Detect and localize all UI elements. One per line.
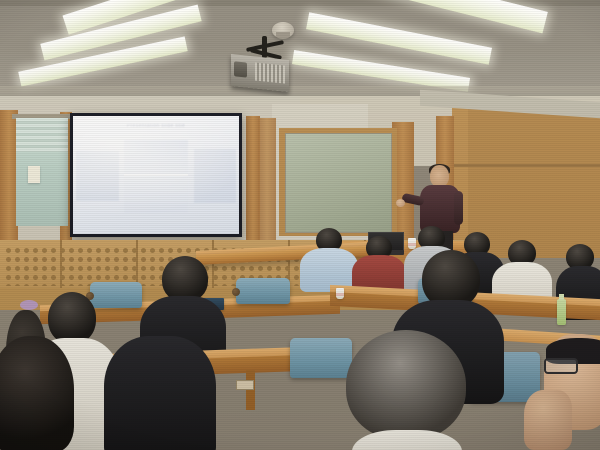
desk-row-3-leg [246, 370, 255, 410]
panel-seam-1 [60, 240, 62, 290]
projection-screen: Presentation slide title [70, 113, 242, 237]
wall-trim-line [452, 164, 600, 167]
window-blinds[interactable] [16, 118, 68, 152]
small-box-on-desk [236, 380, 254, 390]
chair-r2-2[interactable] [236, 278, 290, 304]
attendee-head [346, 330, 466, 440]
presenter-left-arm [454, 191, 463, 225]
chair-r2-2-knob [232, 288, 240, 296]
attendee-hand [524, 390, 572, 450]
attendee-long-hair-far-left [0, 336, 78, 450]
projector-glare [73, 116, 239, 234]
presenter-right-hand [396, 199, 405, 207]
attendee-torso [104, 336, 216, 450]
wood-column-4 [258, 118, 276, 242]
attendee-foreground-black [104, 316, 214, 450]
ceiling-projector [231, 54, 289, 92]
hair-tie [20, 300, 38, 310]
posted-note [28, 166, 40, 183]
attendee-glasses-right [530, 334, 600, 450]
attendee-blue-shirt-left-front [300, 228, 360, 290]
drink-bottle [557, 299, 566, 325]
paper-cup-row2 [336, 288, 344, 299]
projector-vent [255, 62, 285, 83]
attendee-collar [352, 430, 462, 450]
presenter-head [430, 165, 449, 187]
lecture-room-photo: Presentation slide title [0, 0, 600, 450]
eyeglasses-icon [544, 358, 578, 374]
projector-lens-icon [234, 61, 247, 77]
slide-surface: Presentation slide title [73, 116, 239, 234]
attendee-head [0, 336, 74, 450]
chalkboard [285, 133, 392, 233]
attendee-gray-hair-front [336, 330, 476, 450]
smoke-detector-icon [272, 22, 294, 38]
